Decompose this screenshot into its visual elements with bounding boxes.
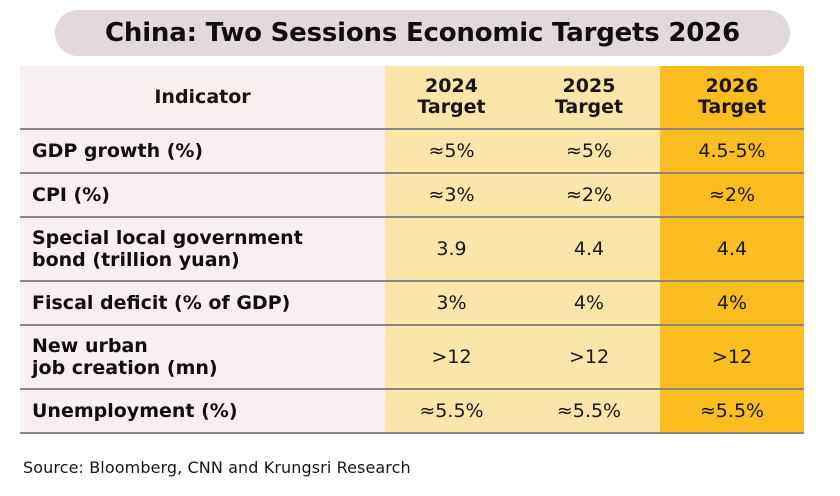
column-header-2025-year: 2025: [518, 76, 660, 97]
table-row: New urban job creation (mn) >12 >12 >12: [20, 325, 804, 389]
cell-fiscal-deficit-2026: 4%: [660, 281, 804, 325]
table-row: Fiscal deficit (% of GDP) 3% 4% 4%: [20, 281, 804, 325]
column-header-2024: 2024 Target: [385, 66, 518, 129]
cell-cpi-2026: ≈2%: [660, 173, 804, 217]
table-row: Unemployment (%) ≈5.5% ≈5.5% ≈5.5%: [20, 389, 804, 433]
row-label-cpi: CPI (%): [20, 173, 385, 217]
row-label-line1: CPI (%): [32, 184, 385, 206]
cell-new-urban-job-creation-2026: >12: [660, 325, 804, 389]
row-label-line1: New urban: [32, 335, 385, 357]
cell-new-urban-job-creation-2025: >12: [518, 325, 660, 389]
column-header-2026-year: 2026: [660, 76, 804, 97]
column-header-2026-sub: Target: [660, 97, 804, 118]
column-header-indicator: Indicator: [20, 66, 385, 129]
row-label-line1: Fiscal deficit (% of GDP): [32, 292, 385, 314]
row-label-fiscal-deficit: Fiscal deficit (% of GDP): [20, 281, 385, 325]
cell-special-local-bond-2025: 4.4: [518, 217, 660, 281]
column-header-2025-sub: Target: [518, 97, 660, 118]
row-label-line2: job creation (mn): [32, 357, 385, 379]
column-header-2026: 2026 Target: [660, 66, 804, 129]
row-label-unemployment: Unemployment (%): [20, 389, 385, 433]
column-header-2024-sub: Target: [385, 97, 518, 118]
title-pill: China: Two Sessions Economic Targets 202…: [55, 10, 790, 56]
table-row: GDP growth (%) ≈5% ≈5% 4.5-5%: [20, 129, 804, 173]
cell-gdp-growth-2025: ≈5%: [518, 129, 660, 173]
table-row: Special local government bond (trillion …: [20, 217, 804, 281]
cell-cpi-2025: ≈2%: [518, 173, 660, 217]
source-note: Source: Bloomberg, CNN and Krungsri Rese…: [23, 458, 411, 477]
column-header-2025: 2025 Target: [518, 66, 660, 129]
cell-new-urban-job-creation-2024: >12: [385, 325, 518, 389]
chart-title-banner: China: Two Sessions Economic Targets 202…: [55, 10, 790, 56]
table-header-row: Indicator 2024 Target 2025 Target 2026 T…: [20, 66, 804, 129]
cell-cpi-2024: ≈3%: [385, 173, 518, 217]
targets-table: Indicator 2024 Target 2025 Target 2026 T…: [20, 66, 804, 434]
cell-fiscal-deficit-2024: 3%: [385, 281, 518, 325]
row-label-line2: bond (trillion yuan): [32, 249, 385, 271]
row-label-special-local-bond: Special local government bond (trillion …: [20, 217, 385, 281]
row-label-line1: GDP growth (%): [32, 140, 385, 162]
cell-unemployment-2025: ≈5.5%: [518, 389, 660, 433]
row-label-gdp-growth: GDP growth (%): [20, 129, 385, 173]
cell-unemployment-2026: ≈5.5%: [660, 389, 804, 433]
row-label-line1: Special local government: [32, 227, 385, 249]
column-header-2024-year: 2024: [385, 76, 518, 97]
row-label-new-urban-job-creation: New urban job creation (mn): [20, 325, 385, 389]
cell-gdp-growth-2026: 4.5-5%: [660, 129, 804, 173]
row-label-line1: Unemployment (%): [32, 400, 385, 422]
cell-special-local-bond-2024: 3.9: [385, 217, 518, 281]
cell-special-local-bond-2026: 4.4: [660, 217, 804, 281]
cell-gdp-growth-2024: ≈5%: [385, 129, 518, 173]
cell-unemployment-2024: ≈5.5%: [385, 389, 518, 433]
cell-fiscal-deficit-2025: 4%: [518, 281, 660, 325]
table-row: CPI (%) ≈3% ≈2% ≈2%: [20, 173, 804, 217]
page-title: China: Two Sessions Economic Targets 202…: [105, 20, 740, 46]
